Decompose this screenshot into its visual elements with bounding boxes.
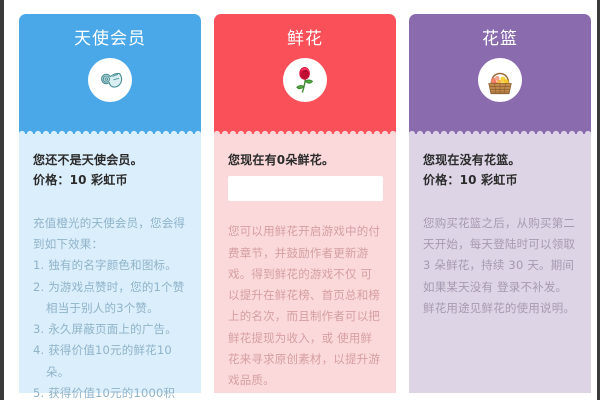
card-header-angel: 天使会员 — [19, 14, 201, 137]
buy-flower-row[interactable]: 1彩虹币 — [228, 176, 383, 201]
card-flower[interactable]: 鲜花 — [214, 14, 396, 400]
card-angel-member[interactable]: 天使会员 — [19, 14, 201, 400]
description-flower: 您可以用鲜花开启游戏中的付费章节，并鼓励作者更新游戏。得到鲜花的游戏不仅 可以提… — [228, 221, 382, 391]
flower-quantity-input[interactable] — [228, 176, 383, 201]
rose-icon — [283, 58, 327, 102]
description-intro-angel: 充值橙光的天使会员，您会得到如下效果： — [33, 213, 187, 256]
list-item: 1. 独有的名字颜色和图标。 — [33, 255, 187, 276]
card-title-flower: 鲜花 — [214, 14, 396, 49]
list-item: 4. 获得价值10元的鲜花10朵。 — [33, 340, 187, 383]
description-angel: 充值橙光的天使会员，您会得到如下效果： 1. 独有的名字颜色和图标。 2. 为游… — [33, 213, 187, 400]
card-body-flower: 您现在有0朵鲜花。 1彩虹币 您可以用鲜花开启游戏中的付费章节，并鼓励作者更新游… — [214, 137, 396, 393]
card-body-angel: 您还不是天使会员。 价格：10 彩虹币 充值橙光的天使会员，您会得到如下效果： … — [19, 137, 201, 393]
description-intro-flower: 您可以用鲜花开启游戏中的付费章节，并鼓励作者更新游戏。得到鲜花的游戏不仅 可以提… — [228, 221, 382, 391]
card-title-angel: 天使会员 — [19, 14, 201, 49]
card-flower-basket[interactable]: 花篮 — [409, 14, 591, 400]
card-title-basket: 花篮 — [409, 14, 591, 49]
status-text-basket: 您现在没有花篮。 — [423, 150, 577, 170]
status-text-angel: 您还不是天使会员。 — [33, 150, 187, 170]
card-header-basket: 花篮 — [409, 14, 591, 137]
price-text-angel: 价格：10 彩虹币 — [33, 170, 187, 190]
scallop-edge-flower — [214, 130, 396, 137]
price-text-basket: 价格：10 彩虹币 — [423, 170, 577, 190]
card-list: 天使会员 — [4, 14, 597, 400]
flower-basket-icon — [478, 58, 522, 102]
description-basket: 您购买花篮之后，从购买第二天开始，每天登陆时可以领取 3 朵鲜花，持续 30 天… — [423, 213, 577, 319]
status-text-flower: 您现在有0朵鲜花。 — [228, 150, 382, 170]
card-header-flower: 鲜花 — [214, 14, 396, 137]
list-item: 5. 获得价值10元的1000积分。 — [33, 383, 187, 400]
screen: 天使会员 — [0, 0, 600, 400]
card-body-basket: 您现在没有花篮。 价格：10 彩虹币 您购买花篮之后，从购买第二天开始，每天登陆… — [409, 137, 591, 393]
scallop-edge-basket — [409, 130, 591, 137]
scallop-edge-angel — [19, 130, 201, 137]
benefit-list-angel: 1. 独有的名字颜色和图标。 2. 为游戏点赞时，您的1个赞相当于别人的3个赞。… — [33, 255, 187, 400]
list-item: 3. 永久屏蔽页面上的广告。 — [33, 319, 187, 340]
list-item: 2. 为游戏点赞时，您的1个赞相当于别人的3个赞。 — [33, 277, 187, 320]
description-intro-basket: 您购买花篮之后，从购买第二天开始，每天登陆时可以领取 3 朵鲜花，持续 30 天… — [423, 213, 577, 319]
angel-wing-icon — [88, 58, 132, 102]
